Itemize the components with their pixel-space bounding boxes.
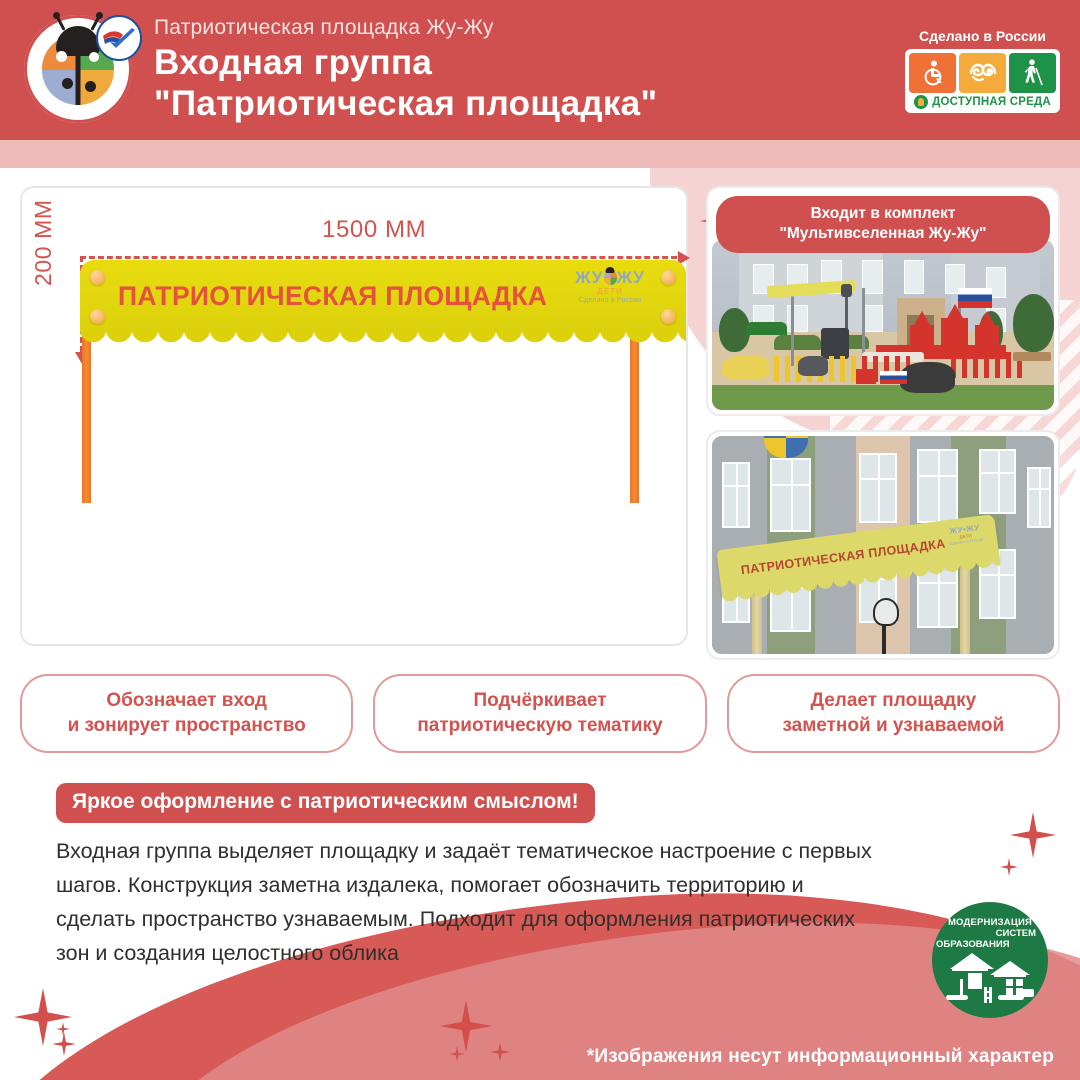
brand-word-left: ЖУ: [575, 268, 603, 287]
accessible-environment-badge: ДОСТУПНАЯ СРЕДА: [905, 49, 1060, 113]
photo-column: Входит в комплект "Мультивселенная Жу-Жу…: [706, 186, 1060, 660]
dimension-diagram-card: 1500 ММ 200 ММ ПАТРИОТИЧЕСКАЯ ПЛОЩАДКА Ж…: [20, 186, 688, 646]
page-title: Входная группа "Патриотическая площадка": [154, 43, 657, 124]
description-section: Яркое оформление с патриотическим смысло…: [20, 783, 1060, 971]
russian-flag-check-icon: [96, 15, 142, 61]
blind-cane-icon: [1009, 53, 1056, 93]
page-title-line1: Входная группа: [154, 43, 657, 84]
kit-badge-line1: Входит в комплект: [726, 204, 1040, 224]
header-pink-band: [0, 140, 1080, 168]
sparkle-icon: [449, 1046, 465, 1062]
page-header: Патриотическая площадка Жу-Жу Входная гр…: [0, 0, 1080, 140]
width-dimension-arrow: [80, 256, 686, 259]
brand-made-text: Сделано в России: [570, 297, 650, 304]
benefit-pill-3-line2: заметной и узнаваемой: [737, 713, 1050, 738]
brand-wordmark: ЖУЖУ: [570, 269, 650, 286]
sparkle-icon: [490, 1042, 510, 1062]
benefit-pill-1-line2: и зонирует пространство: [30, 713, 343, 738]
sparkle-icon: [14, 988, 72, 1046]
description-tag: Яркое оформление с патриотическим смысло…: [56, 783, 595, 823]
benefit-pill-2-line1: Подчёркивает: [383, 688, 696, 713]
footer-disclaimer: *Изображения несут информационный характ…: [587, 1046, 1054, 1068]
ladybug-mini-icon: [604, 270, 617, 285]
sign-board: ПАТРИОТИЧЕСКАЯ ПЛОЩАДКА ЖУЖУ ДЕТИ Сделан…: [80, 260, 686, 332]
benefit-pill-2: Подчёркивает патриотическую тематику: [373, 674, 706, 753]
bolt-icon: [90, 309, 105, 324]
modernization-line3: ОБРАЗОВАНИЯ: [932, 939, 1010, 950]
benefit-pill-2-line2: патриотическую тематику: [383, 713, 696, 738]
modernization-line1: МОДЕРНИЗАЦИЯ: [948, 917, 1032, 928]
page-title-line2: "Патриотическая площадка": [154, 84, 657, 125]
sign-brand-logo: ЖУЖУ ДЕТИ Сделано в России: [570, 269, 650, 304]
product-showcase-row: 1500 ММ 200 ММ ПАТРИОТИЧЕСКАЯ ПЛОЩАДКА Ж…: [20, 186, 1060, 660]
accessibility-caption: ДОСТУПНАЯ СРЕДА: [932, 96, 1051, 108]
benefit-pill-1: Обозначает вход и зонирует пространство: [20, 674, 353, 753]
kit-badge: Входит в комплект "Мультивселенная Жу-Жу…: [716, 196, 1050, 253]
sign-language-icon: [959, 53, 1006, 93]
facade-sign-photo: ПАТРИОТИЧЕСКАЯ ПЛОЩАДКА ЖУ•ЖУ ДЕТИ Сдела…: [712, 436, 1054, 654]
made-in-russia-block: Сделано в России: [905, 28, 1066, 113]
accessibility-mini-icon: [914, 95, 928, 109]
bolt-icon: [661, 270, 676, 285]
description-body: Входная группа выделяет площадку и задаё…: [56, 835, 886, 971]
bolt-icon: [661, 309, 676, 324]
benefit-pill-3: Делает площадку заметной и узнаваемой: [727, 674, 1060, 753]
benefit-pill-3-line1: Делает площадку: [737, 688, 1050, 713]
entrance-sign: ПАТРИОТИЧЕСКАЯ ПЛОЩАДКА ЖУЖУ ДЕТИ Сделан…: [80, 260, 686, 332]
kit-badge-line2: "Мультивселенная Жу-Жу": [726, 224, 1040, 244]
sign-title-text: ПАТРИОТИЧЕСКАЯ ПЛОЩАДКА: [118, 281, 547, 312]
sparkle-icon: [56, 1022, 70, 1036]
width-dimension-label: 1500 ММ: [322, 216, 426, 244]
street-lantern-icon: [882, 618, 886, 654]
benefit-pill-1-line1: Обозначает вход: [30, 688, 343, 713]
sparkle-icon: [440, 1000, 492, 1052]
modernization-illustration: [944, 953, 1036, 1003]
kit-photo-card: Входит в комплект "Мультивселенная Жу-Жу…: [706, 186, 1060, 416]
wheelchair-icon: [909, 53, 956, 93]
modernization-line2: СИСТЕМ: [996, 928, 1048, 939]
sign-scalloped-edge: [80, 329, 686, 345]
header-subtitle: Патриотическая площадка Жу-Жу: [154, 16, 657, 40]
brand-word-right: ЖУ: [617, 268, 645, 287]
header-text-block: Патриотическая площадка Жу-Жу Входная гр…: [154, 16, 657, 124]
modernization-badge: МОДЕРНИЗАЦИЯ СИСТЕМ ОБРАЗОВАНИЯ: [932, 902, 1048, 1018]
bolt-icon: [90, 270, 105, 285]
facade-sign-brand: ЖУ•ЖУ ДЕТИ Сделано в России: [947, 523, 983, 546]
brand-logo: [14, 7, 140, 133]
benefits-pill-row: Обозначает вход и зонирует пространство …: [20, 674, 1060, 753]
brand-deti-text: ДЕТИ: [570, 287, 650, 296]
made-in-label: Сделано в России: [905, 28, 1060, 44]
sparkle-icon: [52, 1032, 76, 1056]
height-dimension-label: 200 ММ: [30, 199, 57, 286]
playground-photo: [712, 240, 1054, 410]
main-content: 1500 ММ 200 ММ ПАТРИОТИЧЕСКАЯ ПЛОЩАДКА Ж…: [0, 168, 1080, 971]
facade-photo-card: ПАТРИОТИЧЕСКАЯ ПЛОЩАДКА ЖУ•ЖУ ДЕТИ Сдела…: [706, 430, 1060, 660]
